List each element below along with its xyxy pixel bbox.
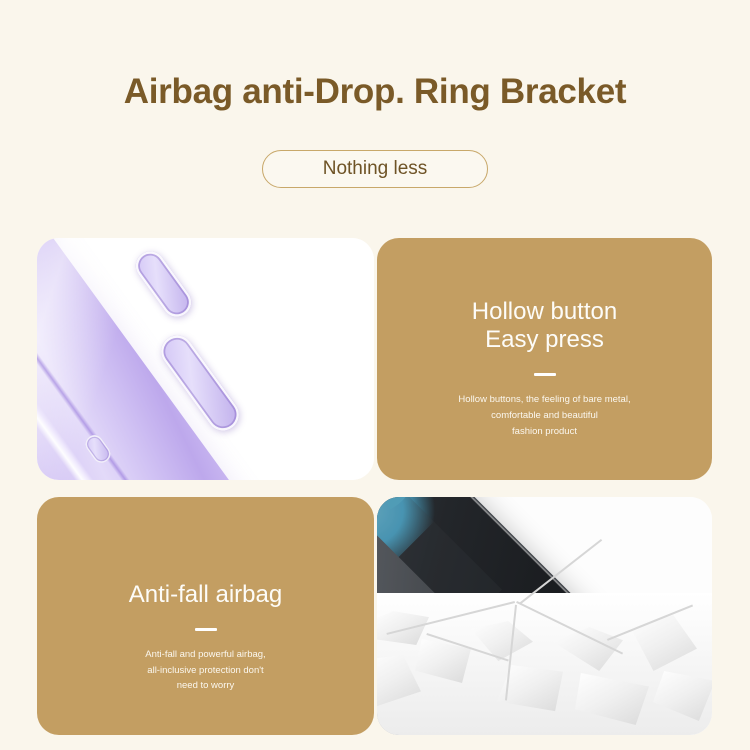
anti-fall-body-line-3: need to worry — [63, 678, 348, 694]
ground-shard — [631, 615, 697, 671]
ground-shard — [471, 621, 533, 661]
anti-fall-body-line-1: Anti-fall and powerful airbag, — [63, 647, 348, 663]
panel-hollow-button-photo — [37, 238, 374, 480]
cracked-ground — [377, 593, 712, 735]
panel-anti-fall-copy: Anti-fall airbag Anti-fall and powerful … — [37, 497, 374, 735]
hollow-button-body-line-2: comfortable and beautiful — [403, 408, 686, 424]
hollow-button-body-line-3: fashion product — [403, 424, 686, 440]
hollow-button-heading-line-1: Hollow button — [377, 298, 712, 326]
hollow-button-cutout-volume-up — [130, 246, 197, 323]
drop-impact-photo — [377, 497, 712, 735]
panel-hollow-button-copy: Hollow button Easy press Hollow buttons,… — [377, 238, 712, 480]
tagline-badge: Nothing less — [262, 150, 488, 188]
anti-fall-body-line-2: all-inclusive protection don't — [63, 663, 348, 679]
page-title: Airbag anti-Drop. Ring Bracket — [0, 72, 750, 112]
hollow-button-heading-line-2: Easy press — [377, 326, 712, 354]
copy-divider-rule — [195, 628, 217, 631]
anti-fall-copy-block: Anti-fall airbag Anti-fall and powerful … — [37, 581, 374, 694]
product-feature-page: Airbag anti-Drop. Ring Bracket Nothing l… — [0, 0, 750, 750]
anti-fall-heading-line-1: Anti-fall airbag — [37, 581, 374, 609]
ground-shard — [653, 671, 712, 721]
page-header: Airbag anti-Drop. Ring Bracket Nothing l… — [0, 0, 750, 230]
phone-case-photo — [37, 238, 374, 480]
ground-shard — [377, 655, 421, 707]
hollow-button-copy-block: Hollow button Easy press Hollow buttons,… — [377, 298, 712, 439]
copy-divider-rule — [534, 373, 556, 376]
hollow-button-body-line-1: Hollow buttons, the feeling of bare meta… — [403, 392, 686, 408]
ground-shard — [575, 673, 649, 725]
panel-anti-fall-photo — [377, 497, 712, 735]
